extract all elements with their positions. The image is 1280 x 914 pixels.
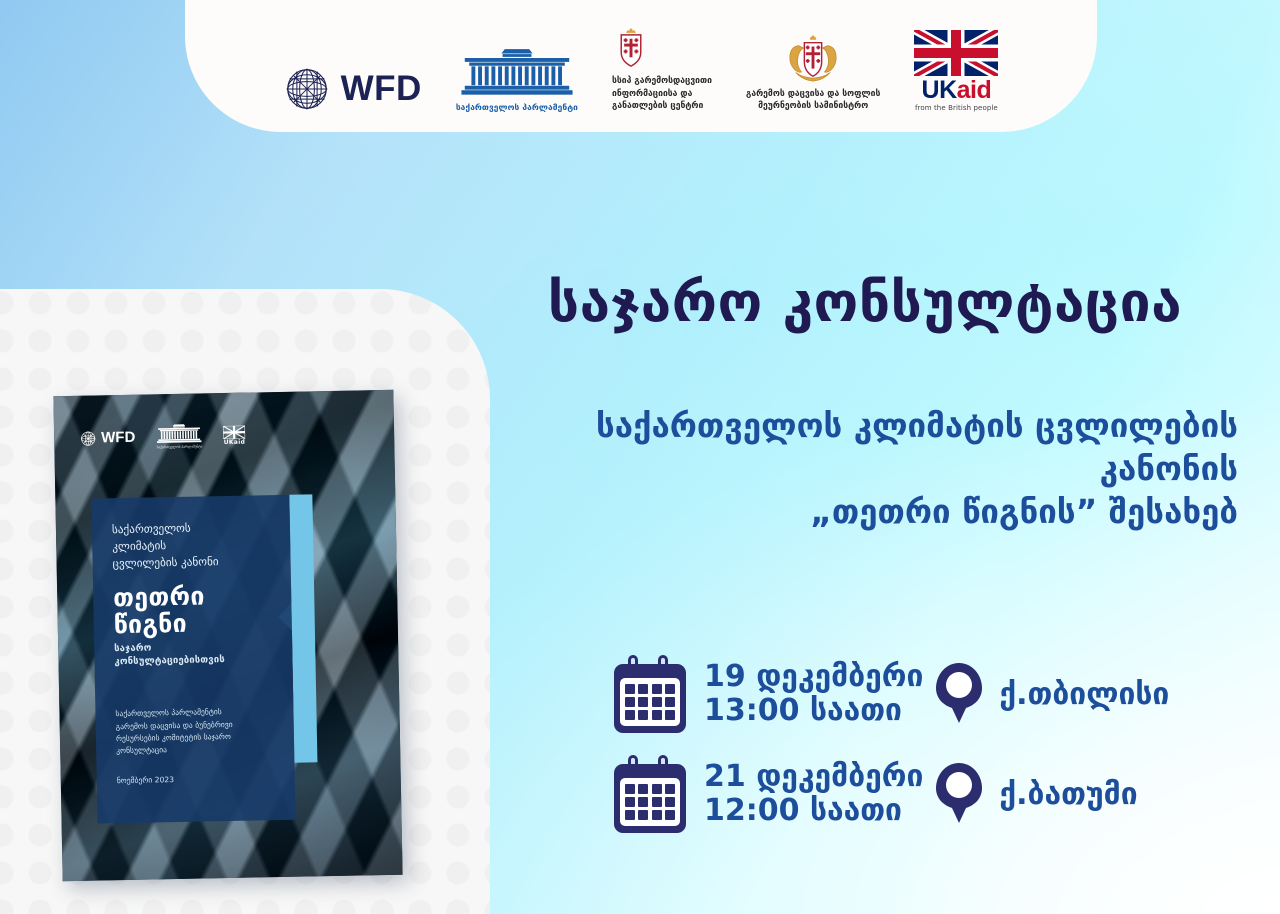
- header-logo-band: WFD: [185, 0, 1097, 132]
- book-top-text: საქართველოს კლიმატის ცვლილების კანონი: [112, 519, 273, 572]
- book-subtitle: საჯარო კონსულტაციებისთვის: [114, 641, 274, 669]
- wfd-globe-icon: [284, 66, 330, 112]
- book-ukaid-label: UKaid: [224, 438, 246, 445]
- parliament-building-icon: [461, 48, 573, 98]
- page-subtitle: საქართველოს კლიმატის ცვლილების კანონის „…: [470, 405, 1260, 534]
- georgia-emblem-small-icon: [616, 28, 646, 70]
- book-big-title-line1: თეთრი: [113, 583, 273, 613]
- union-jack-icon: [914, 30, 998, 76]
- logo-ukaid: UKaid from the British people: [914, 30, 998, 112]
- ukaid-wordmark: UKaid: [922, 78, 992, 103]
- wfd-label: WFD: [341, 69, 422, 109]
- event-date: 19 დეკემბერი: [704, 660, 923, 694]
- calendar-icon: [610, 755, 690, 833]
- subtitle-line-2: კანონის: [470, 448, 1238, 491]
- event-datetime: 19 დეკემბერი 13:00 საათი: [704, 660, 923, 728]
- ministry-caption: გარემოს დაცვისა და სოფლის მეურნეობის სამ…: [746, 88, 880, 112]
- logo-environmental-info-center: სსიპ გარემოსდაცვითი ინფორმაციისა და განა…: [612, 28, 712, 112]
- event-location: ქ.თბილისი: [999, 677, 1169, 712]
- book-wfd-label: WFD: [101, 429, 135, 447]
- wfd-globe-icon: [80, 430, 96, 446]
- event-item: 21 დეკემბერი 12:00 საათი ქ.ბათუმი: [610, 755, 1250, 833]
- parliament-caption: საქართველოს პარლამენტი: [456, 102, 578, 112]
- event-date: 21 დეკემბერი: [704, 760, 923, 794]
- logo-ministry-environment: გარემოს დაცვისა და სოფლის მეურნეობის სამ…: [746, 35, 880, 112]
- event-time: 12:00 საათი: [704, 794, 923, 828]
- calendar-icon: [610, 655, 690, 733]
- book-big-title-line2: წიგნი: [114, 609, 274, 639]
- ukaid-uk-text: UK: [922, 76, 957, 104]
- location-pin-icon: [933, 661, 985, 727]
- book-date: ნოემბერი 2023: [117, 773, 277, 785]
- subtitle-line-3: „თეთრი წიგნის” შესახებ: [470, 491, 1238, 534]
- logo-row: WFD: [284, 28, 999, 118]
- environmental-center-caption: სსიპ გარემოსდაცვითი ინფორმაციისა და განა…: [612, 75, 712, 112]
- book-text-panel: საქართველოს კლიმატის ცვლილების კანონი თე…: [91, 495, 295, 824]
- location-pin-icon: [933, 761, 985, 827]
- parliament-building-icon: [155, 423, 203, 444]
- book-logo-parliament: საქართველოს პარლამენტი: [155, 423, 203, 449]
- page-title: საჯარო კონსულტაცია: [470, 270, 1260, 334]
- georgia-coat-of-arms-icon: [784, 35, 842, 83]
- event-datetime: 21 დეკემბერი 12:00 საათი: [704, 760, 923, 828]
- ukaid-aid-text: aid: [957, 76, 992, 104]
- ukaid-subtext: from the British people: [915, 104, 998, 112]
- event-item: 19 დეკემბერი 13:00 საათი ქ.თბილისი: [610, 655, 1250, 733]
- union-jack-icon: [223, 425, 245, 438]
- logo-wfd: WFD: [284, 66, 422, 112]
- book-cover-image: WFD საქართველოს პარლამენტი: [53, 390, 402, 881]
- subtitle-line-1: საქართველოს კლიმატის ცვლილების: [470, 405, 1238, 448]
- book-big-title: თეთრი წიგნი: [113, 583, 274, 639]
- book-body-text: საქართველოს პარლამენტის გარემოს დაცვისა …: [115, 705, 276, 757]
- events-list: 19 დეკემბერი 13:00 საათი ქ.თბილისი 21 დე…: [610, 655, 1250, 855]
- book-subtitle-line2: კონსულტაციებისთვის: [114, 653, 274, 668]
- logo-georgian-parliament: საქართველოს პარლამენტი: [456, 48, 578, 112]
- event-time: 13:00 საათი: [704, 694, 923, 728]
- book-logo-wfd: WFD: [80, 429, 135, 447]
- book-logo-ukaid: UKaid: [223, 425, 245, 445]
- event-location: ქ.ბათუმი: [999, 777, 1137, 812]
